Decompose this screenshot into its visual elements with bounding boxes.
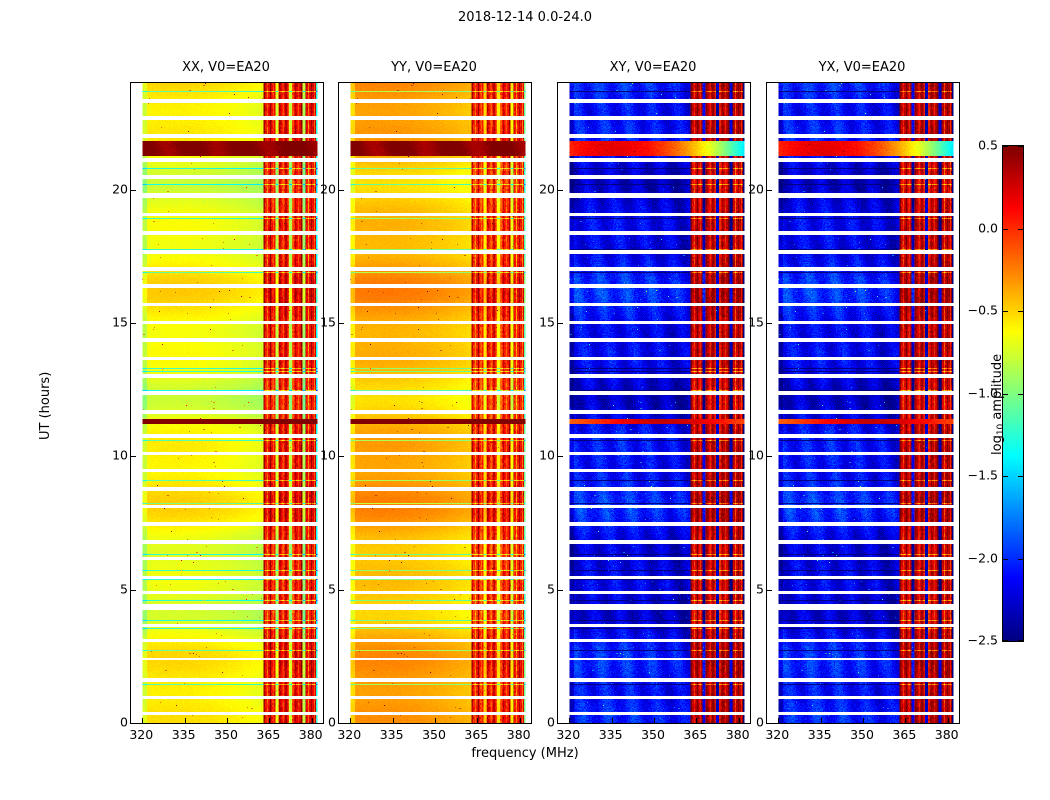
colorbar-tick-mark xyxy=(1003,640,1008,641)
yaxis-tick-mark xyxy=(131,456,136,457)
heatmap-panel-xy[interactable] xyxy=(557,82,751,724)
xaxis-tick-label: 320 xyxy=(337,727,361,742)
yaxis-tick-mark xyxy=(131,190,136,191)
colorbar-tick-mark xyxy=(1018,311,1023,312)
yaxis-tick-mark xyxy=(767,590,772,591)
yaxis-ticklabels-yx: 05101520 xyxy=(724,82,764,722)
colorbar-tick-mark xyxy=(1018,229,1023,230)
yaxis-tick-label: 0 xyxy=(756,715,764,730)
yaxis-tick-mark xyxy=(131,590,136,591)
colorbar-tick-label: −2.5 xyxy=(968,633,998,648)
yaxis-tick-label: 0 xyxy=(547,715,555,730)
yaxis-tick-label: 15 xyxy=(112,315,128,330)
xaxis-tick-label: 320 xyxy=(556,727,580,742)
figure-suptitle: 2018-12-14 0.0-24.0 xyxy=(0,10,1050,25)
yaxis-tick-label: 20 xyxy=(539,181,555,196)
yaxis-tick-mark xyxy=(558,590,563,591)
yaxis-tick-label: 10 xyxy=(748,448,764,463)
xaxis-tick-mark xyxy=(477,718,478,723)
colorbar-tick-mark xyxy=(1003,146,1008,147)
yaxis-tick-label: 5 xyxy=(120,581,128,596)
heatmap-image-yx xyxy=(767,83,959,723)
panel-title-yx: YX, V0=EA20 xyxy=(766,60,958,75)
xaxis-tick-label: 350 xyxy=(641,727,665,742)
yaxis-tick-mark xyxy=(558,323,563,324)
yaxis-tick-label: 5 xyxy=(547,581,555,596)
colorbar-tick-mark xyxy=(1003,476,1008,477)
yaxis-tick-label: 15 xyxy=(748,315,764,330)
colorbar-tick-mark xyxy=(1018,146,1023,147)
colorbar-tick-mark xyxy=(1018,640,1023,641)
yaxis-tick-mark xyxy=(767,456,772,457)
xaxis-tick-label: 365 xyxy=(892,727,916,742)
yaxis-tick-mark xyxy=(558,190,563,191)
xaxis-tick-mark xyxy=(350,718,351,723)
yaxis-tick-label: 0 xyxy=(120,715,128,730)
colorbar-tick-label: −2.0 xyxy=(968,550,998,565)
xaxis-tick-label: 365 xyxy=(464,727,488,742)
colorbar-label-main-text xyxy=(990,420,1005,424)
xaxis-tick-label: 350 xyxy=(422,727,446,742)
xaxis-tick-label: 380 xyxy=(726,727,750,742)
xaxis-tick-mark xyxy=(569,718,570,723)
heatmap-panel-yy[interactable] xyxy=(338,82,532,724)
xaxis-tick-mark xyxy=(696,718,697,723)
colorbar-tick-mark xyxy=(1003,311,1008,312)
xaxis-tick-label: 350 xyxy=(850,727,874,742)
xaxis-tick-mark xyxy=(142,718,143,723)
xaxis-tick-mark xyxy=(654,718,655,723)
yaxis-tick-mark xyxy=(767,323,772,324)
xaxis-tick-mark xyxy=(948,718,949,723)
colorbar-label-main: amplitude xyxy=(990,354,1005,420)
xaxis-tick-label: 380 xyxy=(299,727,323,742)
xaxis-tick-mark xyxy=(612,718,613,723)
xaxis-tick-label: 320 xyxy=(765,727,789,742)
colorbar-tick-label: 0.5 xyxy=(978,138,998,153)
colorbar-label: log10 amplitude xyxy=(990,354,1006,455)
colorbar-tick-mark xyxy=(1018,394,1023,395)
panel-title-yy: YY, V0=EA20 xyxy=(338,60,530,75)
yaxis-tick-label: 10 xyxy=(112,448,128,463)
yaxis-label: UT (hours) xyxy=(38,372,53,440)
xaxis-tick-label: 320 xyxy=(129,727,153,742)
xaxis-tick-mark xyxy=(393,718,394,723)
yaxis-tick-mark xyxy=(131,323,136,324)
heatmap-panel-xx[interactable] xyxy=(130,82,324,724)
xaxis-tick-label: 365 xyxy=(683,727,707,742)
xaxis-tick-label: 335 xyxy=(172,727,196,742)
xaxis-tick-label: 335 xyxy=(808,727,832,742)
yaxis-ticklabels-yy: 05101520 xyxy=(296,82,336,722)
xaxis-tick-mark xyxy=(778,718,779,723)
xaxis-tick-label: 335 xyxy=(380,727,404,742)
yaxis-tick-mark xyxy=(339,456,344,457)
yaxis-tick-mark xyxy=(339,723,344,724)
yaxis-tick-mark xyxy=(558,456,563,457)
yaxis-tick-mark xyxy=(339,590,344,591)
heatmap-image-yy xyxy=(339,83,531,723)
yaxis-tick-label: 20 xyxy=(320,181,336,196)
colorbar-tick-label: −0.5 xyxy=(968,303,998,318)
colorbar-label-prefix: log xyxy=(990,435,1005,455)
yaxis-tick-label: 10 xyxy=(539,448,555,463)
yaxis-tick-mark xyxy=(767,190,772,191)
xaxis-ticklabels-yx: 320335350365380 xyxy=(766,727,958,745)
xaxis-tick-mark xyxy=(269,718,270,723)
xaxis-tick-mark xyxy=(185,718,186,723)
xaxis-ticklabels-yy: 320335350365380 xyxy=(338,727,530,745)
yaxis-tick-label: 5 xyxy=(328,581,336,596)
colorbar-tick-mark xyxy=(1018,559,1023,560)
xaxis-ticklabels-xy: 320335350365380 xyxy=(557,727,749,745)
yaxis-tick-label: 5 xyxy=(756,581,764,596)
yaxis-tick-mark xyxy=(767,723,772,724)
yaxis-tick-label: 15 xyxy=(320,315,336,330)
heatmap-panel-yx[interactable] xyxy=(766,82,960,724)
yaxis-tick-label: 15 xyxy=(539,315,555,330)
xaxis-tick-label: 335 xyxy=(599,727,623,742)
colorbar-label-subscript: 10 xyxy=(996,424,1006,435)
yaxis-tick-label: 10 xyxy=(320,448,336,463)
yaxis-tick-mark xyxy=(339,323,344,324)
heatmap-image-xx xyxy=(131,83,323,723)
yaxis-tick-label: 0 xyxy=(328,715,336,730)
yaxis-tick-label: 20 xyxy=(748,181,764,196)
yaxis-tick-mark xyxy=(339,190,344,191)
figure-canvas: 2018-12-14 0.0-24.0 XX, V0=EA20 05101520… xyxy=(0,0,1050,800)
xaxis-tick-label: 350 xyxy=(214,727,238,742)
xaxis-tick-mark xyxy=(863,718,864,723)
panel-title-xx: XX, V0=EA20 xyxy=(130,60,322,75)
yaxis-tick-mark xyxy=(558,723,563,724)
xaxis-tick-label: 380 xyxy=(507,727,531,742)
xaxis-tick-mark xyxy=(435,718,436,723)
xaxis-label: frequency (MHz) xyxy=(0,746,1050,761)
yaxis-tick-label: 20 xyxy=(112,181,128,196)
yaxis-ticklabels-xx: 05101520 xyxy=(88,82,128,722)
yaxis-tick-mark xyxy=(131,723,136,724)
colorbar-tick-label: 0.0 xyxy=(978,220,998,235)
xaxis-tick-mark xyxy=(905,718,906,723)
xaxis-tick-label: 380 xyxy=(935,727,959,742)
xaxis-tick-mark xyxy=(227,718,228,723)
heatmap-image-xy xyxy=(558,83,750,723)
colorbar-tick-mark xyxy=(1018,476,1023,477)
xaxis-tick-mark xyxy=(821,718,822,723)
colorbar-tick-label: −1.5 xyxy=(968,468,998,483)
panel-title-xy: XY, V0=EA20 xyxy=(557,60,749,75)
colorbar-tick-mark xyxy=(1003,229,1008,230)
xaxis-tick-label: 365 xyxy=(256,727,280,742)
yaxis-ticklabels-xy: 05101520 xyxy=(515,82,555,722)
xaxis-ticklabels-xx: 320335350365380 xyxy=(130,727,322,745)
colorbar-tick-mark xyxy=(1003,559,1008,560)
